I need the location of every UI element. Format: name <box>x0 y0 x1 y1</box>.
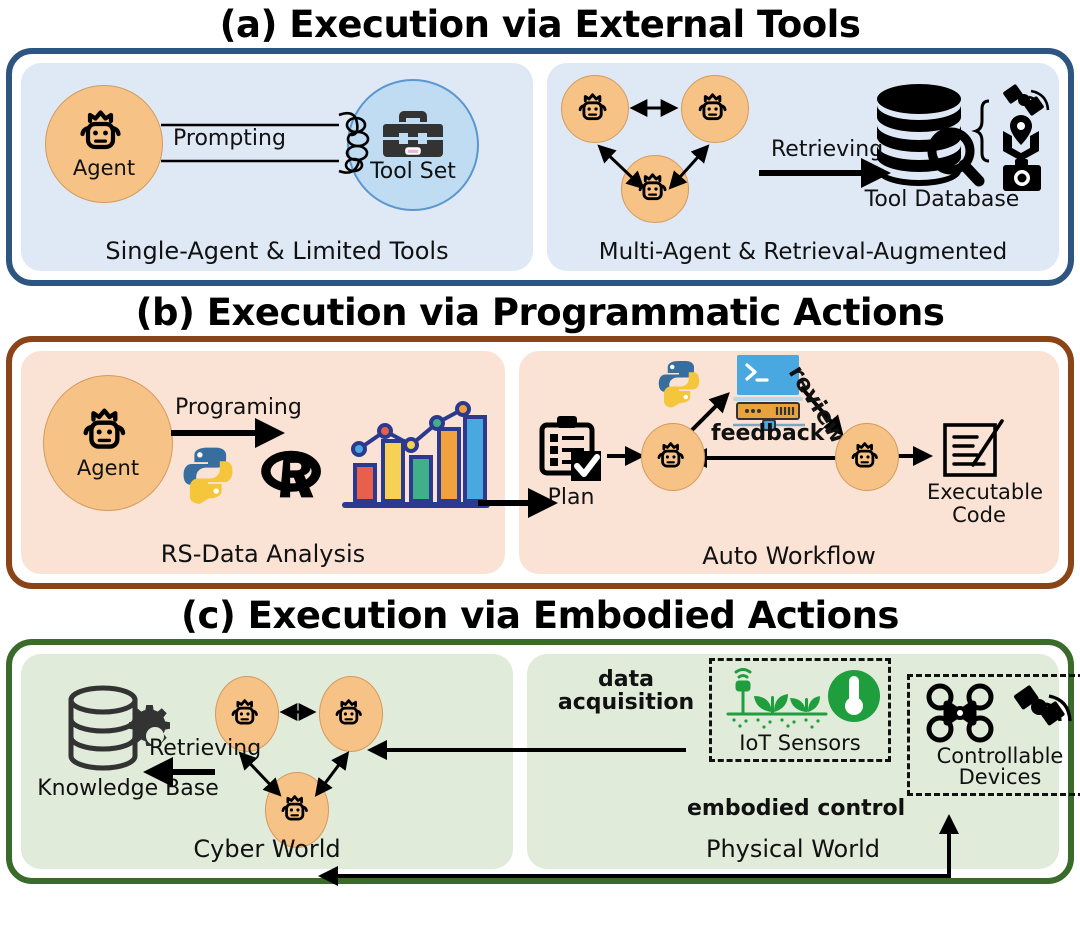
panel-physical-stage: data acquisition <box>527 654 1059 869</box>
node-agent[interactable] <box>319 676 383 752</box>
panel-rs-data-stage: Agent Programing <box>21 351 505 574</box>
embodied-control-label: embodied control <box>687 796 905 821</box>
panel-rs-data-analysis: Agent Programing <box>21 351 505 574</box>
executable-code-label-line1: Executable <box>927 480 1043 504</box>
agent-icon <box>78 108 130 158</box>
section-title-c: (c) Execution via Embodied Actions <box>0 593 1080 639</box>
panel-multi-agent-stage: Retrieving <box>547 63 1059 271</box>
agent-icon <box>334 697 368 731</box>
data-acquisition-label: data acquisition <box>551 668 701 714</box>
executable-code-icon <box>939 417 1007 481</box>
node-tool-database[interactable]: Tool Database <box>863 81 1053 221</box>
panel-auto-workflow-stage: Plan <box>519 351 1059 574</box>
iot-sensors-icon <box>720 666 880 732</box>
panel-rs-data-caption: RS-Data Analysis <box>21 540 505 568</box>
section-title-b: (b) Execution via Programmatic Actions <box>0 290 1080 336</box>
node-agent[interactable] <box>561 75 629 143</box>
r-logo-icon <box>259 447 325 503</box>
node-tool-set[interactable]: Tool Set <box>347 79 479 211</box>
panel-auto-workflow-caption: Auto Workflow <box>519 542 1059 570</box>
agent-label: Agent <box>77 456 139 480</box>
map-pin-icon <box>1003 115 1039 161</box>
iot-sensors-label: IoT Sensors <box>712 733 888 755</box>
tool-database-label: Tool Database <box>857 187 1027 212</box>
controllable-devices-line2: Devices <box>959 765 1042 789</box>
node-agent[interactable] <box>621 155 689 223</box>
knowledge-base-icon <box>61 684 191 780</box>
python-logo-icon <box>179 443 237 503</box>
panel-multi-agent-caption: Multi-Agent & Retrieval-Augmented <box>547 239 1059 265</box>
node-agent[interactable]: Agent <box>45 85 163 203</box>
controllable-devices-line1: Controllable <box>937 744 1064 768</box>
node-agent[interactable]: Agent <box>43 375 173 511</box>
plan-icon <box>537 413 605 485</box>
section-a-box: Agent <box>6 48 1074 286</box>
agent-icon <box>81 406 135 458</box>
agent-icon <box>850 440 884 474</box>
bar-chart-icon <box>337 383 487 513</box>
box-iot-sensors[interactable]: IoT Sensors <box>709 658 891 762</box>
node-agent[interactable] <box>681 75 749 143</box>
section-c-box: Knowledge Base <box>6 639 1074 884</box>
agent-icon <box>656 440 690 474</box>
panel-auto-workflow: Plan <box>519 351 1059 574</box>
panel-physical-world: data acquisition <box>527 654 1059 869</box>
prompting-label: Prompting <box>173 126 286 151</box>
controllable-devices-icon <box>920 683 1080 745</box>
plan-label: Plan <box>535 485 607 510</box>
agent-icon <box>577 91 613 127</box>
satellite-icon <box>1002 84 1048 117</box>
toolbox-icon <box>382 107 444 161</box>
panel-multi-agent: Retrieving <box>547 63 1059 271</box>
section-title-a: (a) Execution via External Tools <box>0 0 1080 48</box>
agent-icon <box>697 91 733 127</box>
agent-icon <box>280 793 314 827</box>
agent-label: Agent <box>73 156 135 180</box>
executable-code-label-line2: Code <box>952 503 1006 527</box>
feedback-label: feedback <box>711 421 824 446</box>
panel-single-agent-caption: Single-Agent & Limited Tools <box>21 237 533 265</box>
agent-icon <box>230 697 264 731</box>
node-plan[interactable]: Plan <box>537 413 613 513</box>
section-b-box: Agent Programing <box>6 336 1074 589</box>
node-agent[interactable] <box>641 423 705 491</box>
data-acquisition-line1: data <box>598 667 654 692</box>
node-executable-code[interactable]: Executable Code <box>927 417 1031 537</box>
satellite-icon <box>1013 685 1070 726</box>
panel-cyber-caption: Cyber World <box>21 835 513 863</box>
tool-database-icon <box>863 81 1053 193</box>
panel-cyber-stage: Knowledge Base <box>21 654 513 869</box>
panel-physical-caption: Physical World <box>527 835 1059 863</box>
box-controllable-devices[interactable]: Controllable Devices <box>907 674 1080 796</box>
knowledge-base-label: Knowledge Base <box>33 776 223 801</box>
panel-single-agent: Agent <box>21 63 533 271</box>
figure-root: (a) Execution via External Tools <box>0 0 1080 948</box>
controllable-devices-label: Controllable Devices <box>910 746 1080 789</box>
retrieving-label-c: Retrieving <box>149 736 261 761</box>
python-logo-icon <box>655 357 703 407</box>
panel-cyber-world: Knowledge Base <box>21 654 513 869</box>
tool-set-label: Tool Set <box>370 159 456 184</box>
programing-label: Programing <box>175 395 302 420</box>
panel-single-agent-stage: Agent <box>21 63 533 271</box>
data-acquisition-line2: acquisition <box>558 690 694 715</box>
node-agent[interactable] <box>835 423 899 491</box>
drone-icon <box>929 686 991 740</box>
agent-icon <box>637 171 673 207</box>
